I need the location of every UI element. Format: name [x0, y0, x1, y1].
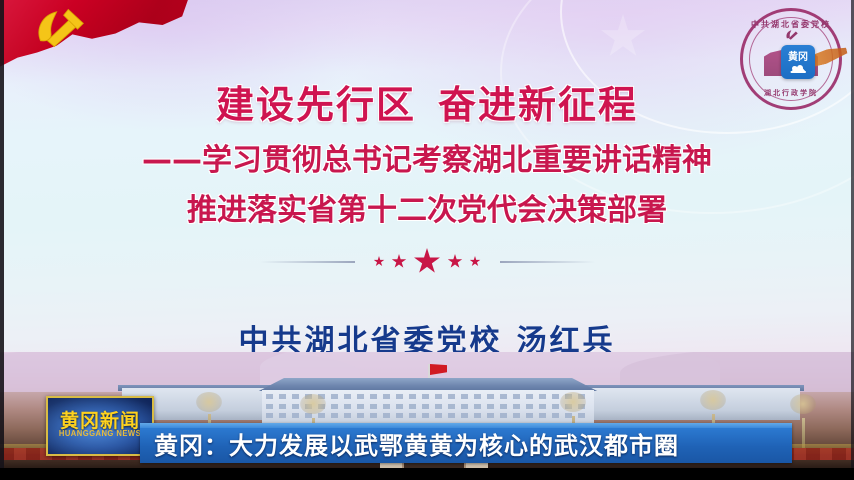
tree-icon: [700, 390, 726, 410]
slide-title-main-right: 奋进新征程: [438, 83, 638, 127]
divider-rule-right: [500, 261, 595, 263]
star-icon: [448, 254, 463, 269]
tree-icon: [790, 394, 816, 414]
five-stars-divider: [0, 248, 854, 275]
frame-edge-left: [0, 0, 4, 468]
tree-icon: [560, 392, 586, 412]
star-icon: [374, 256, 385, 267]
tv-broadcast-frame: 中共湖北省委党校 湖北行政学院 黄冈 建设先行区奋进新征程 ——学习贯彻总书记考…: [0, 0, 854, 480]
star-icon: [414, 248, 441, 275]
tree-icon: [196, 392, 222, 412]
lower-third-banner: 黄冈：大力发展以武鄂黄黄为核心的武汉都市圈: [140, 423, 792, 463]
letterbox-bar-bottom: [0, 468, 854, 480]
slide-title-main: 建设先行区奋进新征程: [0, 74, 854, 129]
slide-title-block: 建设先行区奋进新征程 ——学习贯彻总书记考察湖北重要讲话精神 推进落实省第十二次…: [0, 0, 854, 229]
slide-subtitle-line1: ——学习贯彻总书记考察湖北重要讲话精神: [0, 135, 854, 179]
building-wing-right: [590, 388, 800, 420]
tree-icon: [300, 394, 326, 414]
star-icon: [470, 256, 481, 267]
slide-title-main-left: 建设先行区: [216, 83, 416, 127]
lower-third-headline: 黄冈：大力发展以武鄂黄黄为核心的武汉都市圈: [154, 423, 782, 463]
divider-stars: [364, 248, 491, 275]
divider-rule-left: [260, 261, 355, 263]
program-logo: 黄冈新闻 HUANGGANG NEWS: [46, 396, 154, 456]
slide-subtitle-line2: 推进落实省第十二次党代会决策部署: [0, 185, 854, 229]
star-icon: [392, 254, 407, 269]
program-logo-english: HUANGGANG NEWS: [51, 429, 150, 438]
